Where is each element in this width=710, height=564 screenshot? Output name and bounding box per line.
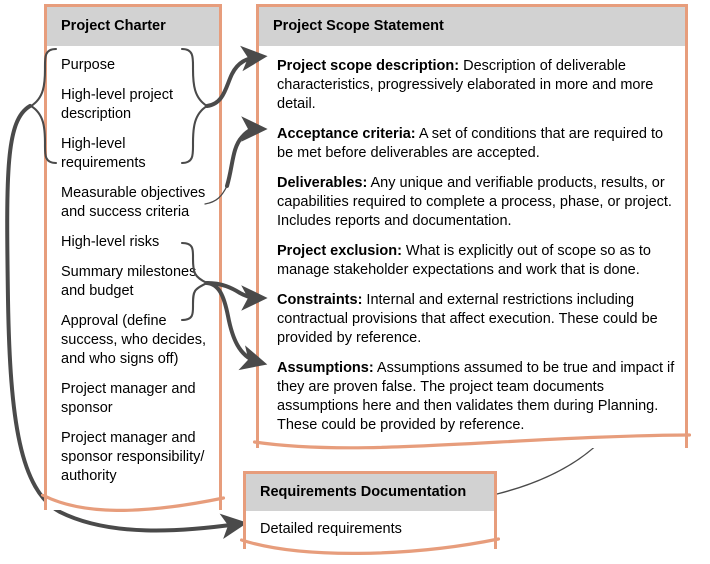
charter-item: Measurable objectives and success criter… <box>61 184 207 222</box>
charter-item: Approval (define success, who decides, a… <box>61 312 207 369</box>
requirements-documentation-title: Requirements Documentation <box>246 474 494 511</box>
scope-entry: Deliverables: Any unique and verifiable … <box>277 174 675 231</box>
diagram-canvas: Project Charter Purpose High-level proje… <box>0 0 710 564</box>
scope-entry: Project scope description: Description o… <box>277 57 675 114</box>
charter-item: Project manager and sponsor responsibili… <box>61 429 207 486</box>
charter-item: Project manager and sponsor <box>61 380 207 418</box>
scope-entry: Project exclusion: What is explicitly ou… <box>277 242 675 280</box>
scope-entry: Constraints: Internal and external restr… <box>277 291 675 348</box>
torn-paper-edge <box>253 432 691 454</box>
scope-entry-term: Project exclusion: <box>277 243 402 259</box>
charter-item: High-level project description <box>61 86 207 124</box>
charter-item: Summary milestones and budget <box>61 263 207 301</box>
charter-item: High-level requirements <box>61 135 207 173</box>
torn-paper-edge <box>41 494 225 516</box>
project-scope-statement-title: Project Scope Statement <box>259 7 685 46</box>
charter-item: High-level risks <box>61 233 207 252</box>
project-charter-document: Project Charter Purpose High-level proje… <box>44 4 222 516</box>
project-scope-statement-document: Project Scope Statement Project scope de… <box>256 4 688 454</box>
scope-entry-term: Constraints: <box>277 292 362 308</box>
project-charter-items: Purpose High-level project description H… <box>47 46 219 492</box>
scope-entry-term: Deliverables: <box>277 175 367 191</box>
charter-item: Purpose <box>61 56 207 75</box>
project-scope-entries: Project scope description: Description o… <box>259 46 685 441</box>
torn-paper-edge <box>240 537 500 557</box>
scope-entry: Acceptance criteria: A set of conditions… <box>277 125 675 163</box>
scope-entry: Assumptions: Assumptions assumed to be t… <box>277 359 675 435</box>
scope-entry-term: Acceptance criteria: <box>277 126 416 142</box>
scope-entry-term: Assumptions: <box>277 360 374 376</box>
scope-entry-term: Project scope description: <box>277 58 459 74</box>
project-charter-title: Project Charter <box>47 7 219 46</box>
requirements-item: Detailed requirements <box>260 520 482 539</box>
requirements-documentation-document: Requirements Documentation Detailed requ… <box>243 471 497 557</box>
